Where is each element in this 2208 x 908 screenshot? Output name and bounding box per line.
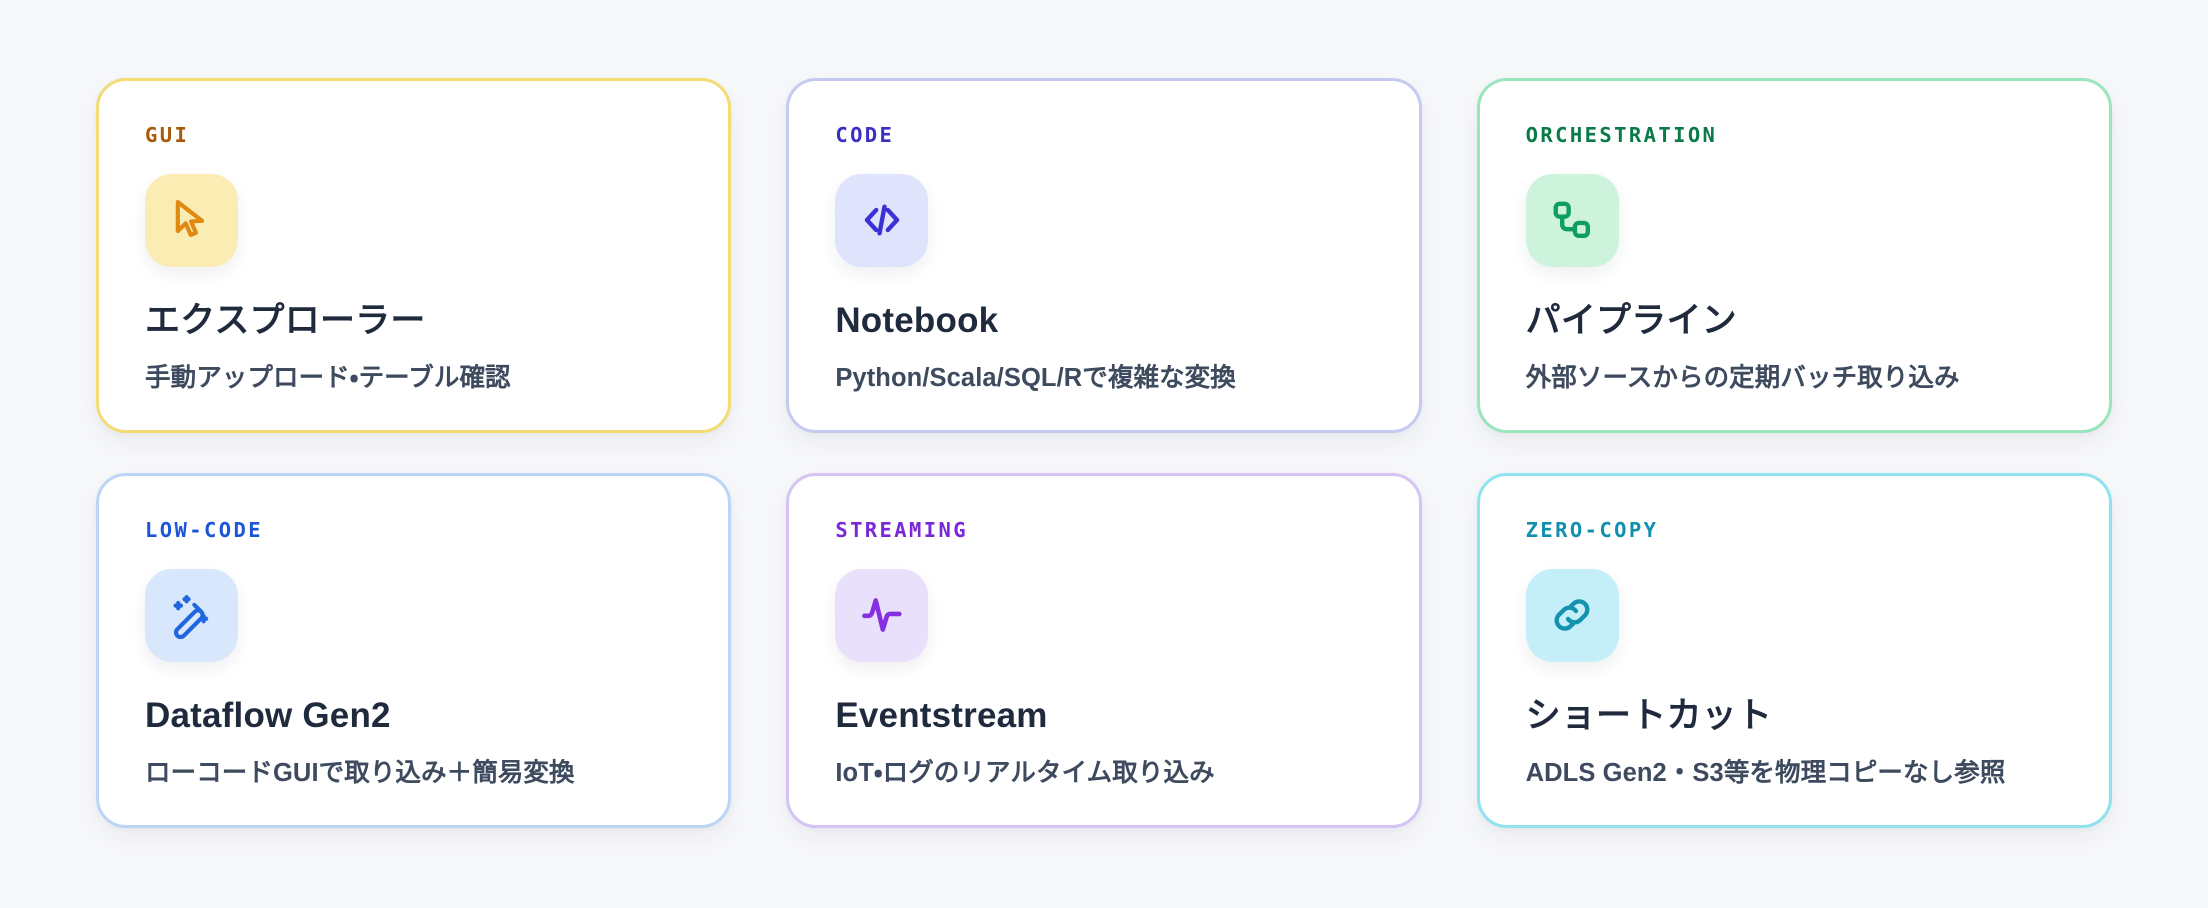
cursor-arrow-icon: [145, 174, 238, 267]
card-title: Eventstream: [835, 696, 1372, 736]
card-title: Dataflow Gen2: [145, 696, 682, 736]
card-notebook[interactable]: CODE Notebook Python/Scala/SQL/Rで複雑な変換: [786, 78, 1421, 433]
activity-pulse-icon: [835, 569, 928, 662]
card-title: エクスプローラー: [145, 301, 682, 341]
card-dataflow-gen2[interactable]: LOW-CODE Dataflow Gen2 ローコードGUIで取り込み＋簡易変…: [96, 473, 731, 828]
card-description: Python/Scala/SQL/Rで複雑な変換: [835, 362, 1372, 395]
card-kicker: CODE: [835, 125, 1372, 146]
link-chain-icon: [1526, 569, 1619, 662]
card-pipeline[interactable]: ORCHESTRATION パイプライン 外部ソースからの定期バッチ取り込み: [1477, 78, 2112, 433]
card-explorer[interactable]: GUI エクスプローラー 手動アップロード・テーブル確認: [96, 78, 731, 433]
card-description: ADLS Gen2・S3等を物理コピーなし参照: [1526, 757, 2063, 790]
options-grid: GUI エクスプローラー 手動アップロード・テーブル確認 CODE Notebo…: [96, 78, 2112, 828]
card-title: Notebook: [835, 301, 1372, 341]
card-description: ローコードGUIで取り込み＋簡易変換: [145, 757, 682, 790]
card-description: 手動アップロード・テーブル確認: [145, 362, 682, 395]
card-description: 外部ソースからの定期バッチ取り込み: [1526, 362, 2063, 395]
card-kicker: LOW-CODE: [145, 520, 682, 541]
card-kicker: GUI: [145, 125, 682, 146]
workflow-nodes-icon: [1526, 174, 1619, 267]
card-kicker: STREAMING: [835, 520, 1372, 541]
card-board: GUI エクスプローラー 手動アップロード・テーブル確認 CODE Notebo…: [0, 0, 2208, 908]
card-title: パイプライン: [1526, 301, 2063, 341]
magic-wand-icon: [145, 569, 238, 662]
card-eventstream[interactable]: STREAMING Eventstream IoT・ログのリアルタイム取り込み: [786, 473, 1421, 828]
card-kicker: ORCHESTRATION: [1526, 125, 2063, 146]
card-kicker: ZERO-COPY: [1526, 520, 2063, 541]
card-description: IoT・ログのリアルタイム取り込み: [835, 757, 1372, 790]
card-title: ショートカット: [1526, 696, 2063, 736]
card-shortcut[interactable]: ZERO-COPY ショートカット ADLS Gen2・S3等を物理コピーなし参…: [1477, 473, 2112, 828]
code-brackets-icon: [835, 174, 928, 267]
